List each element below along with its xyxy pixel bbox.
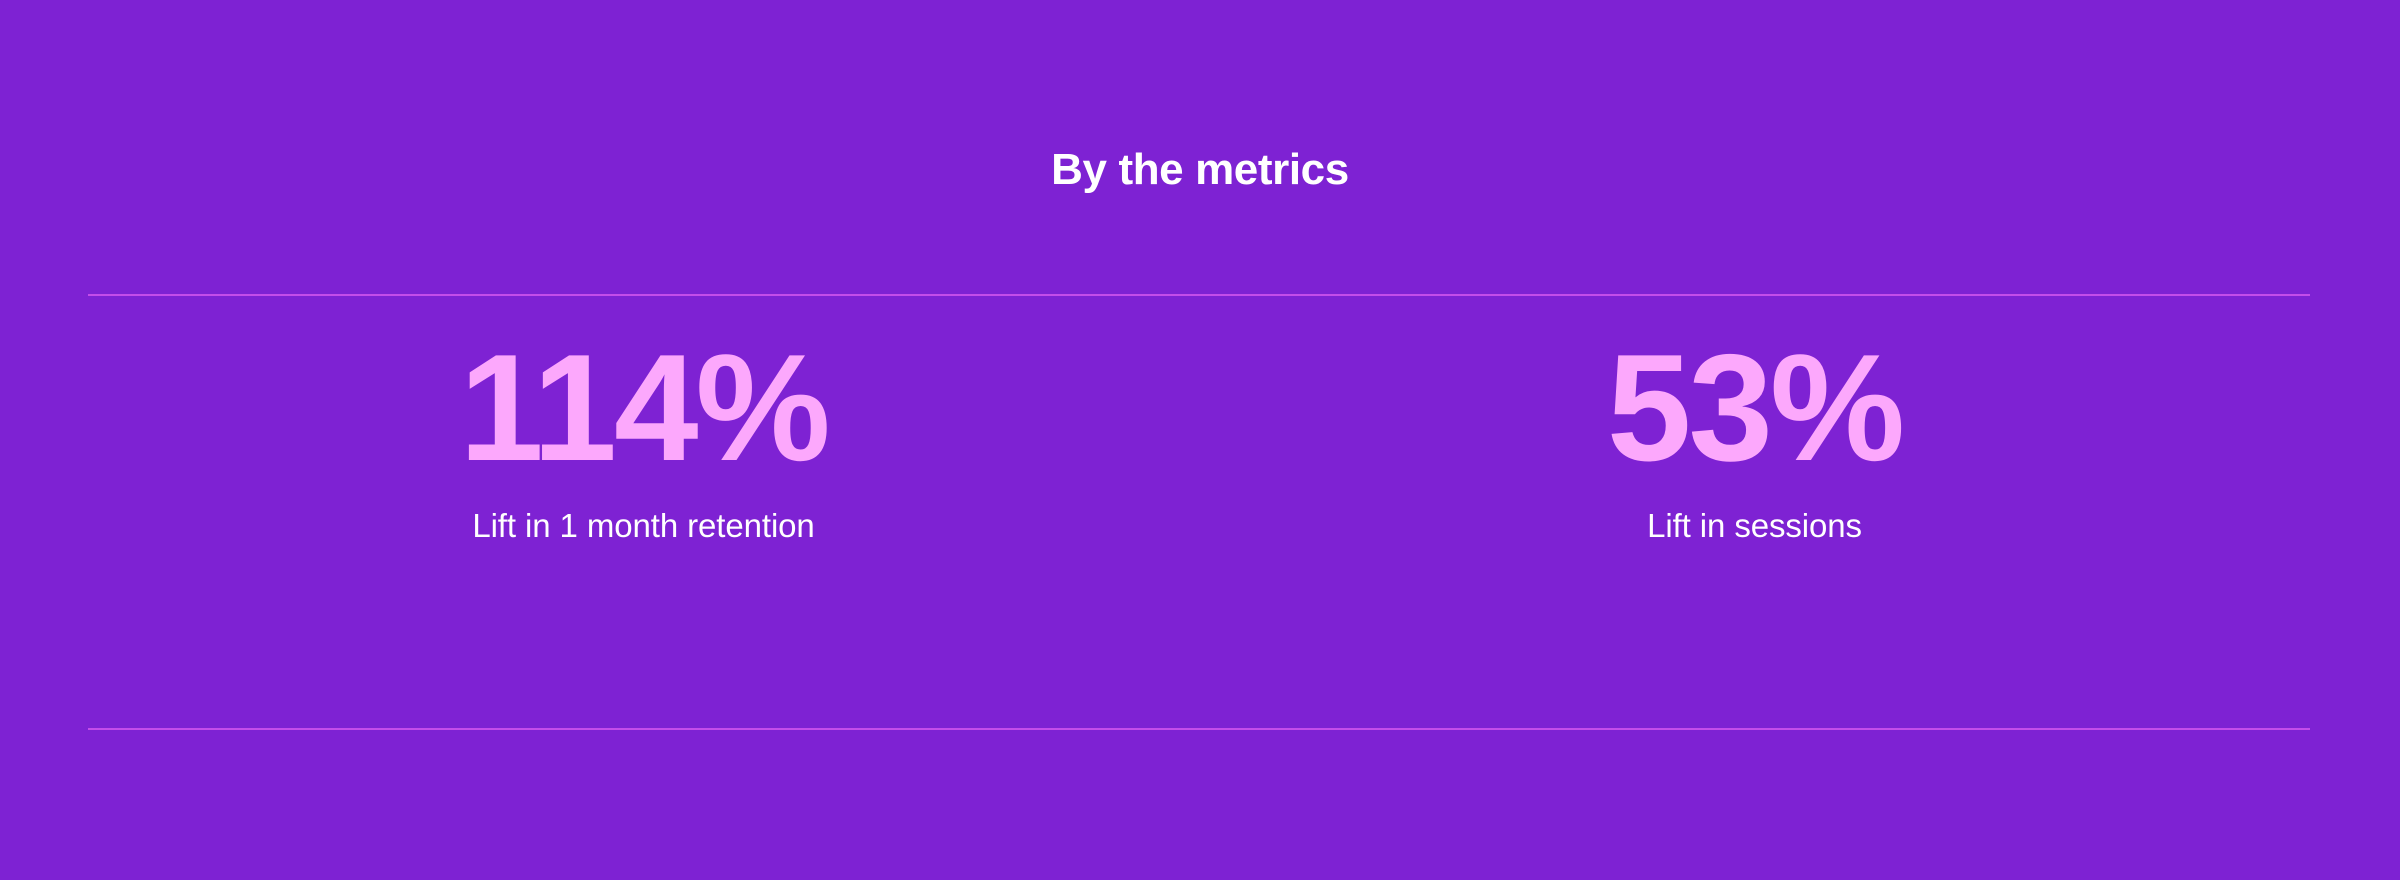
by-the-metrics-section: By the metrics 114% Lift in 1 month rete… <box>0 0 2400 880</box>
stat-label: Lift in 1 month retention <box>472 506 814 546</box>
stat-card-retention: 114% Lift in 1 month retention <box>88 296 1199 546</box>
stat-value: 114% <box>459 332 827 484</box>
stats-grid: 114% Lift in 1 month retention 53% Lift … <box>88 296 2310 728</box>
page-title: By the metrics <box>0 148 2400 192</box>
stat-value: 53% <box>1607 332 1902 484</box>
stat-card-sessions: 53% Lift in sessions <box>1199 296 2310 546</box>
divider-bottom <box>88 728 2310 730</box>
stat-label: Lift in sessions <box>1647 506 1862 546</box>
